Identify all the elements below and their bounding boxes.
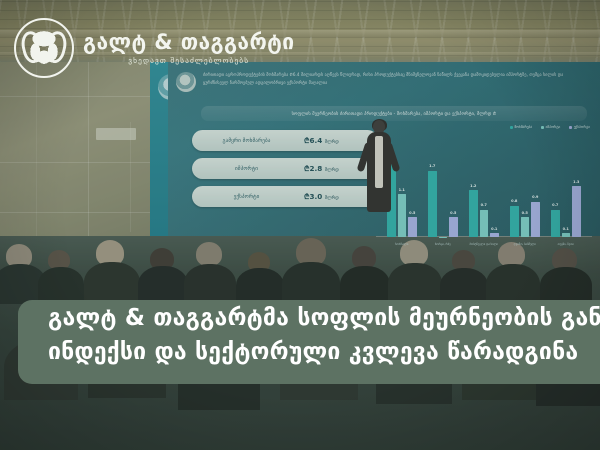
bar-value-label: 0.9 — [532, 195, 538, 199]
bar: 1.1 — [398, 194, 407, 237]
bar-value-label: 0.5 — [522, 211, 528, 215]
bar-value-label: 0.7 — [552, 203, 558, 207]
metric-label: გამყრი მოხმარება — [192, 138, 301, 144]
bar: 1.3 — [572, 186, 581, 237]
metric-row: იმპორტი ₾2.8 მლრდ — [192, 158, 378, 179]
legend-item: იმპორტი — [541, 125, 560, 129]
bar-value-label: 0.1 — [563, 227, 569, 231]
brand-text: გალტ & თაგგარტი ვხედავთ შესაძლებლობებს — [83, 32, 295, 64]
chart-plot: 2.01.10.5ხორბალი1.70.5ხორცი, რძე1.20.70.… — [376, 139, 592, 237]
bar-value-label: 0.5 — [450, 211, 456, 215]
screenshot-canvas: ძირითადი აგროპროდუქტების მოხმარება ₾6.4 … — [0, 0, 600, 450]
bar: 0.9 — [531, 202, 540, 237]
bar: 0.5 — [449, 217, 458, 237]
legend-swatch — [510, 126, 513, 129]
x-axis-label: თევზი, ზეთი — [558, 242, 574, 246]
bar: 0.8 — [510, 206, 519, 237]
slide-subtitle: სოფლის მეურნეობის ძირითადი პროდუქტები - … — [201, 106, 587, 121]
legend-label: იმპორტი — [546, 125, 561, 129]
legend-item: მოხმარება — [510, 125, 532, 129]
slide-content: ძირითადი აგროპროდუქტების მოხმარება ₾6.4 … — [168, 62, 600, 267]
exit-sign — [96, 128, 136, 140]
metric-label: ექსპორტი — [192, 194, 301, 200]
brand-tagline: ვხედავთ შესაძლებლობებს — [83, 57, 295, 64]
legend-label: ექსპორტი — [574, 125, 590, 129]
metric-label: იმპორტი — [192, 166, 301, 172]
bar: 0.7 — [480, 210, 489, 237]
brand-title: გალტ & თაგგარტი — [83, 32, 295, 53]
headline-line-2: ინდექსი და სექტორული კვლევა წარადგინა — [48, 338, 600, 367]
chart-legend: მოხმარებაიმპორტიექსპორტი — [510, 125, 590, 129]
metric-row: გამყრი მოხმარება ₾6.4 მლრდ — [192, 130, 378, 151]
legend-item: ექსპორტი — [569, 125, 590, 129]
x-axis-label: ხორცი, რძე — [435, 242, 451, 246]
bar-value-label: 1.3 — [573, 180, 579, 184]
bar-value-label: 0.7 — [481, 203, 487, 207]
bar-value-label: 0.5 — [409, 211, 415, 215]
x-axis-label: ღვინო, სასმელი — [514, 242, 536, 246]
bar: 0.5 — [521, 217, 530, 237]
legend-swatch — [569, 126, 572, 129]
bar: 0.1 — [562, 233, 571, 237]
bar-group: 0.80.50.9ღვინო, სასმელი — [510, 202, 540, 237]
bar-value-label: 0.8 — [511, 199, 517, 203]
headline-banner: გალტ & თაგგარტმა სოფლის მეურნეობის განვ … — [18, 300, 600, 384]
bar: 1.7 — [428, 171, 437, 237]
legend-swatch — [541, 126, 544, 129]
metric-list: გამყრი მოხმარება ₾6.4 მლრდ იმპორტი ₾2.8 … — [192, 130, 378, 214]
bar: 0.7 — [551, 210, 560, 237]
bar-value-label: 1.7 — [429, 164, 435, 168]
bar — [439, 237, 448, 238]
bar-group: 1.20.70.1ბოსტნეული და ხილი — [469, 190, 499, 237]
bar-value-label: 0.1 — [491, 227, 497, 231]
headline-line-1: გალტ & თაგგარტმა სოფლის მეურნეობის განვ — [48, 304, 600, 333]
ram-head-logo-icon — [14, 18, 74, 78]
bar-group: 0.70.11.3თევზი, ზეთი — [551, 186, 581, 237]
presenter-silhouette — [364, 120, 394, 260]
bar: 1.2 — [469, 190, 478, 237]
bar: 0.1 — [490, 233, 499, 237]
metric-row: ექსპორტი ₾3.0 მლრდ — [192, 186, 378, 207]
x-axis-label: ხორბალი — [395, 242, 408, 246]
bar: 0.5 — [408, 217, 417, 237]
bar-value-label: 1.2 — [470, 184, 476, 188]
bar-group: 1.70.5ხორცი, რძე — [428, 171, 458, 237]
brand-logo: გალტ & თაგგარტი ვხედავთ შესაძლებლობებს — [14, 18, 295, 78]
x-axis-label: ბოსტნეული და ხილი — [469, 242, 498, 246]
bar-value-label: 1.1 — [399, 188, 405, 192]
legend-label: მოხმარება — [515, 125, 533, 129]
bar-chart: მოხმარებაიმპორტიექსპორტი 2.01.10.5ხორბალ… — [376, 125, 592, 255]
